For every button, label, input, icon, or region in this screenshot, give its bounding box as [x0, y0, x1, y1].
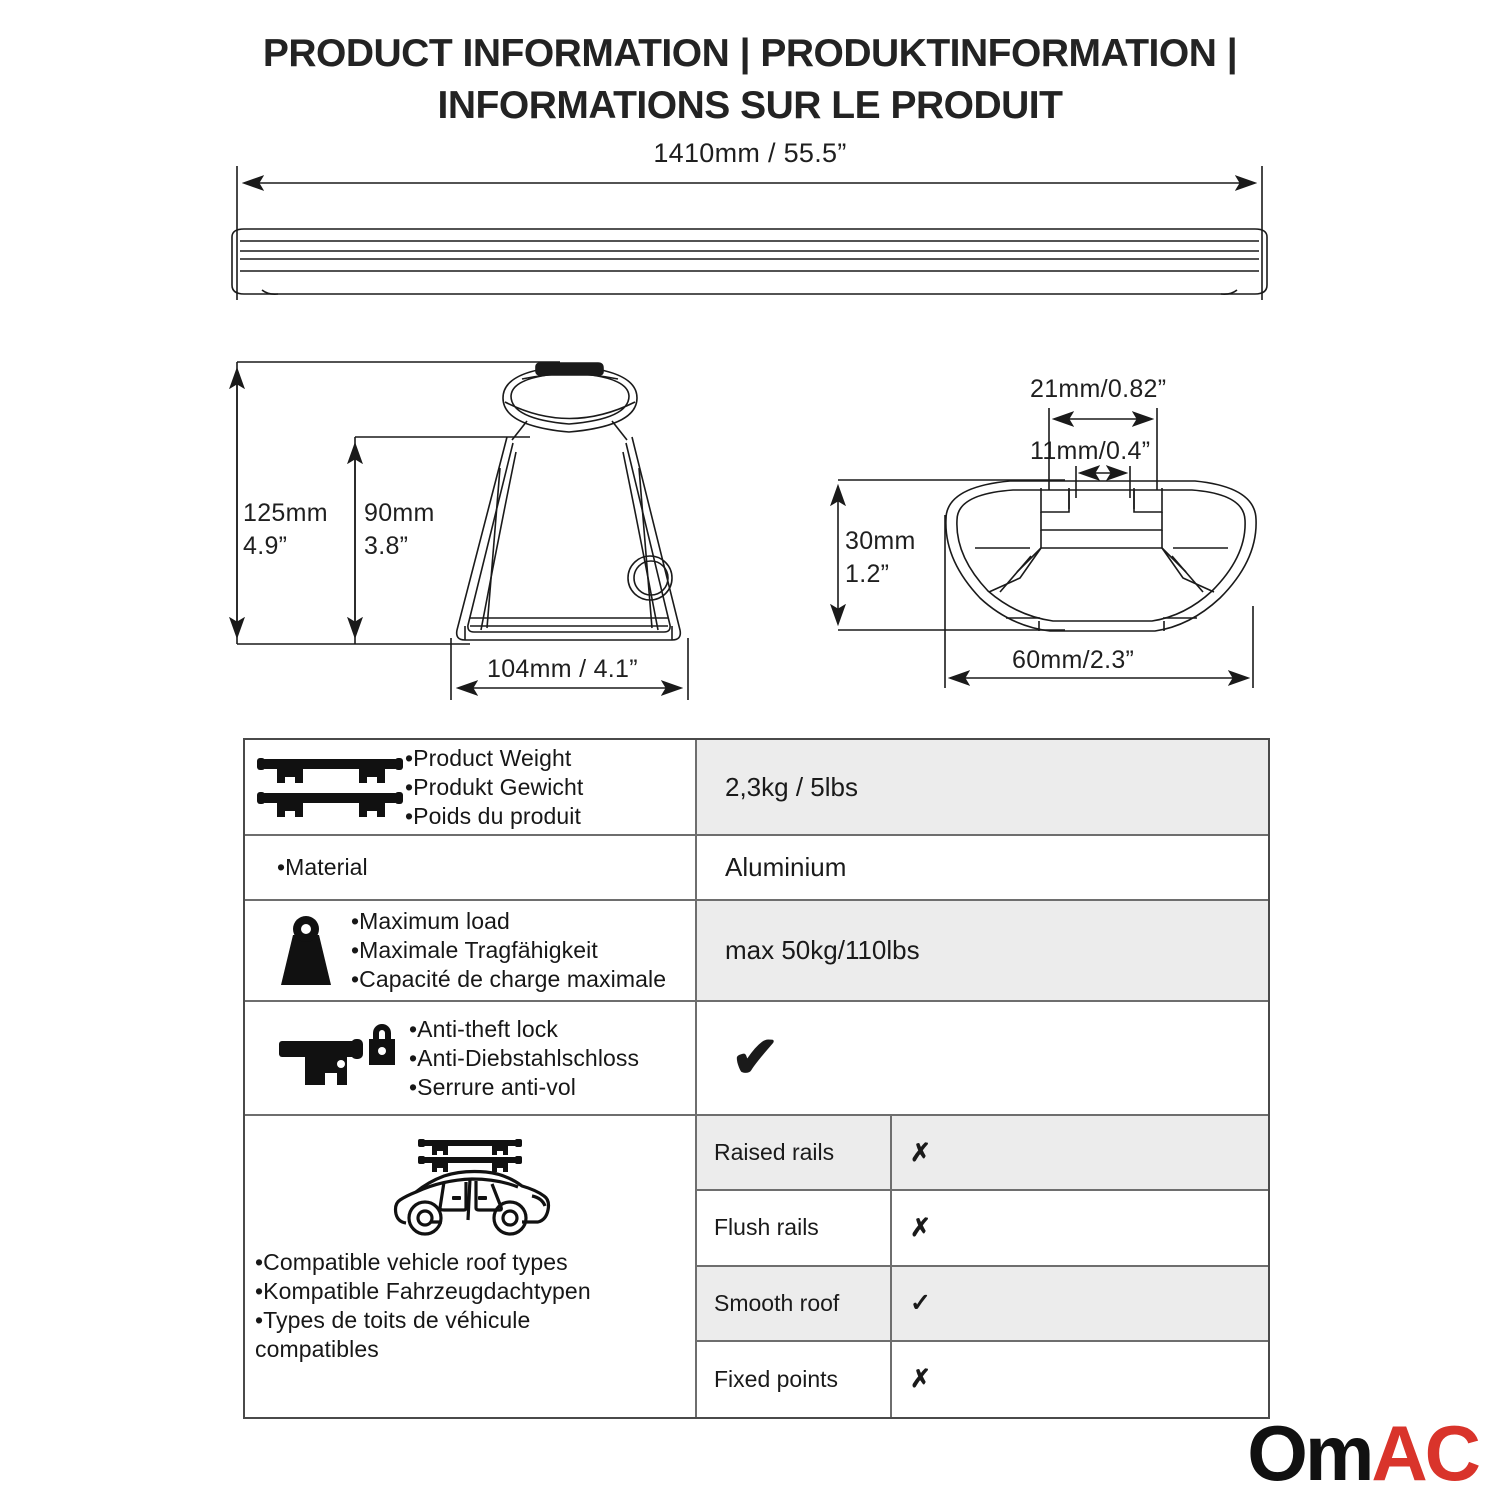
anti-theft-label-cell: •Anti-theft lock •Anti-Diebstahlschloss … [245, 1002, 697, 1114]
dim-tower-height-total: 125mm 4.9” [243, 497, 328, 563]
compatibility-label-cell: •Compatible vehicle roof types •Kompatib… [245, 1116, 697, 1417]
roof-type-row: Flush rails ✗ [697, 1191, 1268, 1266]
anti-theft-labels: •Anti-theft lock •Anti-Diebstahlschloss … [409, 1015, 639, 1102]
roof-type-name: Flush rails [697, 1191, 892, 1264]
roof-type-row: Smooth roof ✓ [697, 1267, 1268, 1342]
table-row: •Compatible vehicle roof types •Kompatib… [245, 1116, 1268, 1417]
material-labels: •Material [255, 853, 368, 882]
dim-profile-slot-outer: 21mm/0.82” [1030, 375, 1166, 404]
weight-icon [269, 913, 343, 989]
weight-label-cell: •Product Weight •Produkt Gewicht •Poids … [245, 740, 697, 834]
car-with-roofbars-icon [382, 1130, 558, 1242]
dim-profile-slot-inner: 11mm/0.4” [1030, 437, 1150, 466]
omac-logo: OmAC [1247, 1414, 1478, 1492]
weight-labels: •Product Weight •Produkt Gewicht •Poids … [405, 744, 583, 831]
roof-type-list: Raised rails ✗ Flush rails ✗ Smooth roof… [697, 1116, 1268, 1417]
roof-type-row: Fixed points ✗ [697, 1342, 1268, 1417]
product-information-sheet: PRODUCT INFORMATION | PRODUKTINFORMATION… [0, 0, 1500, 1500]
roof-type-row: Raised rails ✗ [697, 1116, 1268, 1191]
dim-tower-height-inner: 90mm 3.8” [364, 497, 435, 563]
material-value: Aluminium [697, 836, 1268, 899]
table-row: •Anti-theft lock •Anti-Diebstahlschloss … [245, 1002, 1268, 1116]
logo-text-black: Om [1247, 1409, 1371, 1497]
check-mark: ✔ [731, 1029, 780, 1087]
anti-theft-value: ✔ [697, 1002, 1268, 1114]
max-load-label-cell: •Maximum load •Maximale Tragfähigkeit •C… [245, 901, 697, 1000]
compatibility-labels: •Compatible vehicle roof types •Kompatib… [245, 1248, 591, 1364]
max-load-value: max 50kg/110lbs [697, 901, 1268, 1000]
roof-type-value: ✗ [892, 1116, 1268, 1189]
title-line-2: INFORMATIONS SUR LE PRODUIT [0, 80, 1500, 132]
dim-tower-width: 104mm / 4.1” [487, 655, 638, 684]
logo-text-red: AC [1371, 1409, 1478, 1497]
specification-table: •Product Weight •Produkt Gewicht •Poids … [243, 738, 1270, 1419]
roof-type-name: Fixed points [697, 1342, 892, 1417]
max-load-labels: •Maximum load •Maximale Tragfähigkeit •C… [351, 907, 666, 994]
table-row: •Maximum load •Maximale Tragfähigkeit •C… [245, 901, 1268, 1002]
weight-value: 2,3kg / 5lbs [697, 740, 1268, 834]
table-row: •Product Weight •Produkt Gewicht •Poids … [245, 740, 1268, 836]
roof-type-name: Raised rails [697, 1116, 892, 1189]
table-row: •Material Aluminium [245, 836, 1268, 901]
dim-profile-height: 30mm 1.2” [845, 525, 916, 591]
roof-type-value: ✓ [892, 1267, 1268, 1340]
title-line-1: PRODUCT INFORMATION | PRODUKTINFORMATION… [263, 32, 1237, 75]
roof-type-value: ✗ [892, 1342, 1268, 1417]
roof-type-name: Smooth roof [697, 1267, 892, 1340]
dim-bar-length: 1410mm / 55.5” [0, 138, 1500, 169]
material-label-cell: •Material [245, 836, 697, 899]
dim-profile-width: 60mm/2.3” [1012, 646, 1134, 675]
crossbars-icon [255, 751, 405, 823]
lock-icon [273, 1021, 399, 1095]
page-title: PRODUCT INFORMATION | PRODUKTINFORMATION… [0, 28, 1500, 132]
roof-type-value: ✗ [892, 1191, 1268, 1264]
